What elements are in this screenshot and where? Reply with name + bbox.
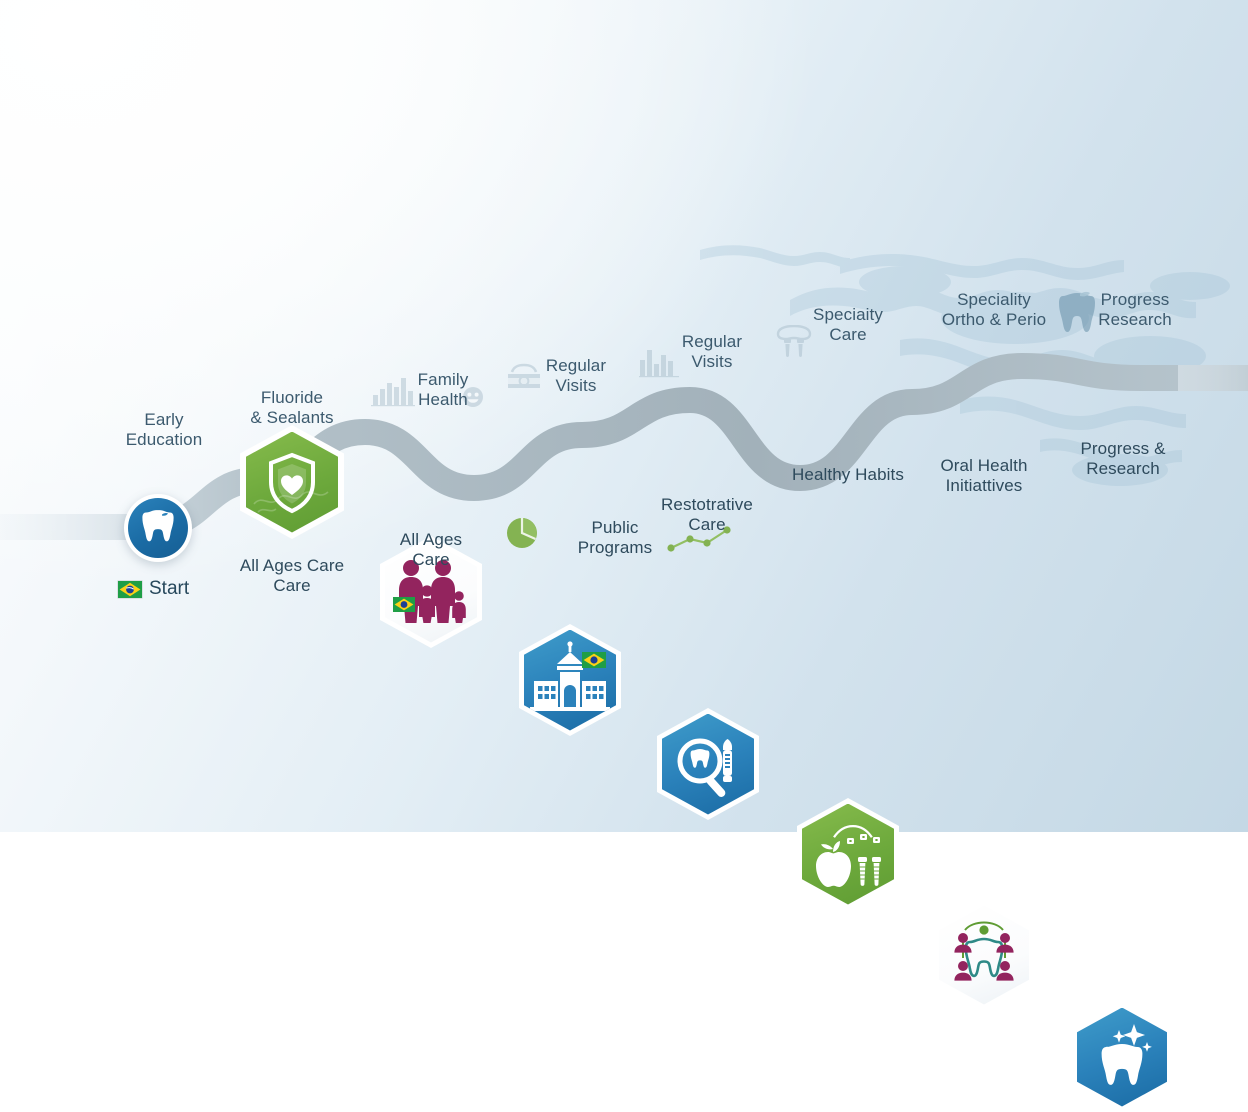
node-healthy-habits-bottom-label: Healthy Habits (768, 465, 928, 485)
node-family-health-top-label: Family Health (388, 370, 498, 410)
node-restorative-care-bottom-label: Restotrative Care (637, 495, 777, 535)
pie-chart-icon (505, 516, 539, 550)
start-label-text: Start (149, 578, 189, 600)
node-progress-research-top-label: Progress Research (1062, 290, 1208, 330)
node-progress-research[interactable] (1072, 1002, 1172, 1112)
tooth-icon (128, 498, 188, 558)
node-early-education[interactable] (124, 494, 192, 562)
node-fluoride-sealants-top-label: Fluoride & Sealants (222, 388, 362, 428)
node-oral-health-initiatives-top-label: Speciality Ortho & Perio (914, 290, 1074, 330)
brazil-flag-icon (118, 581, 142, 598)
node-progress-research-bottom-label: Progress & Research (1048, 439, 1198, 479)
start-label-group: Start (118, 578, 189, 600)
node-healthy-habits-top-label: Speciaity Care (793, 305, 903, 345)
node-public-programs[interactable] (519, 624, 621, 736)
brazil-flag-icon (582, 652, 606, 668)
node-restorative-care-top-label: Regular Visits (652, 332, 772, 372)
node-early-education-top-label: Early Education (96, 410, 232, 450)
brazil-flag-icon (393, 597, 415, 612)
node-healthy-habits[interactable] (797, 798, 899, 910)
node-oral-health-initiatives[interactable] (934, 900, 1034, 1010)
node-face (128, 498, 188, 558)
node-fluoride-sealants-bottom-label: All Ages Care Care (212, 556, 372, 596)
node-family-health-bottom-label: All Ages Care (361, 530, 501, 570)
node-public-programs-top-label: Regular Visits (518, 356, 634, 396)
node-fluoride-sealants[interactable] (240, 425, 344, 539)
infographic-canvas: Early Education Start Fluoride & Sealant… (0, 0, 1248, 832)
node-oral-health-initiatives-bottom-label: Oral Health Initiattives (914, 456, 1054, 496)
node-restorative-care[interactable] (657, 708, 759, 820)
